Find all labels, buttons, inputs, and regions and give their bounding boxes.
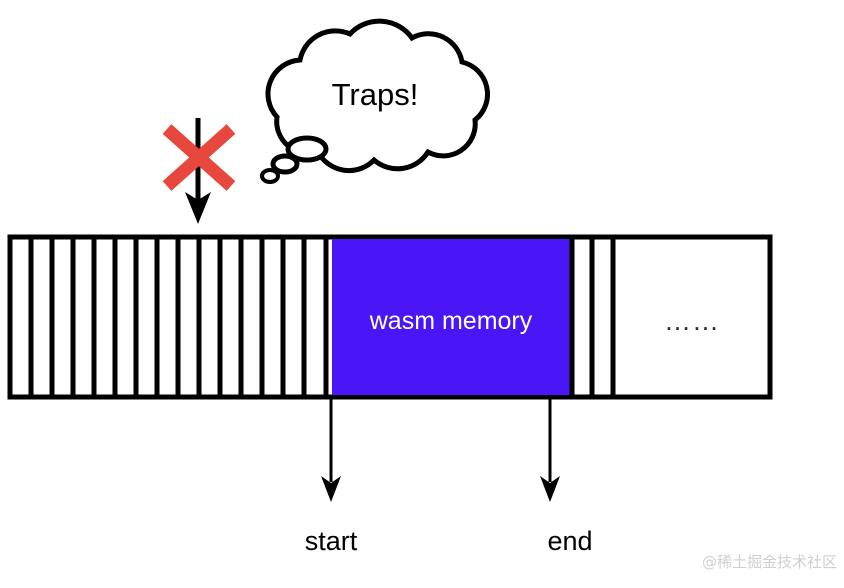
cloud-tail-bubble-small [262,170,278,182]
end-label: end [547,526,592,556]
watermark-text: @稀土掘金技术社区 [702,553,837,571]
guard-cells-left [31,239,326,395]
memory-bar: wasm memory …… [10,237,770,397]
end-pointer: end [540,398,593,556]
start-pointer: start [305,398,358,556]
ellipsis-label: …… [664,306,720,336]
diagram-svg: Traps! [0,0,844,588]
start-label: start [305,526,358,556]
wasm-memory-label: wasm memory [369,307,533,335]
thought-cloud: Traps! [262,21,488,182]
cloud-tail-bubble-medium [273,156,297,172]
traps-text: Traps! [332,77,419,112]
diagram-canvas: Traps! [0,0,844,588]
